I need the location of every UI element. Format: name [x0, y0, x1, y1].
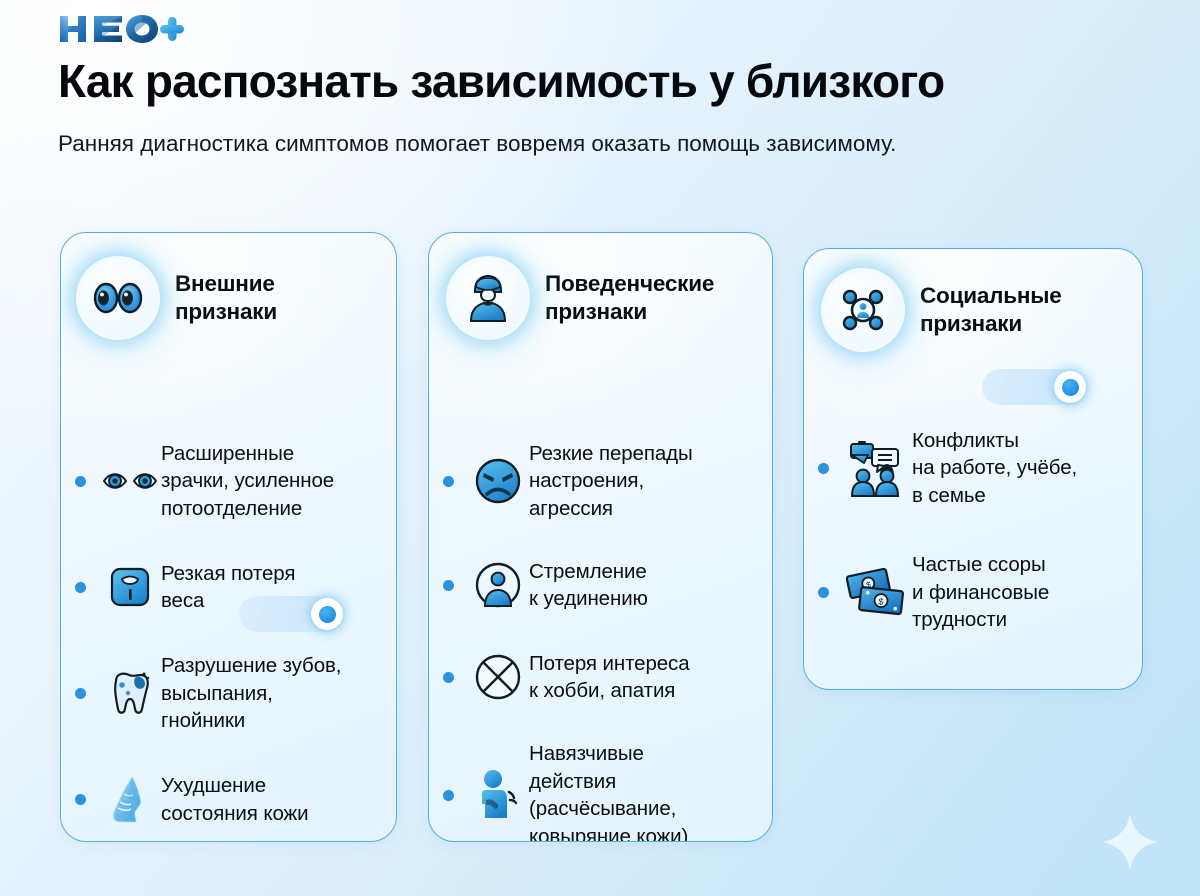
- bullet-dot: [75, 476, 86, 487]
- list-item-text: Резкая потеря веса: [161, 560, 295, 615]
- sparkle-icon: [1100, 812, 1160, 872]
- list-item: Расширенные зрачки, усиленное потоотделе…: [61, 440, 396, 522]
- card-header-behavioral: Поведенческие признаки: [449, 259, 714, 337]
- list-item: Потеря интереса к хобби, апатия: [429, 648, 772, 706]
- crossed-circle-icon: [467, 648, 529, 706]
- page-subtitle: Ранняя диагностика симптомов помогает во…: [58, 128, 978, 160]
- list-item-text: Частые ссоры и финансовые трудности: [912, 551, 1049, 633]
- card-title-social: Социальные признаки: [920, 282, 1062, 339]
- list-social: Конфликты на работе, учёбе, в семье $: [804, 427, 1142, 676]
- bullet-dot: [75, 582, 86, 593]
- list-item: Резкие перепады настроения, агрессия: [429, 440, 772, 522]
- card-behavioral-signs: Поведенческие признаки Резкие перепады н…: [428, 232, 773, 842]
- list-item-text: Расширенные зрачки, усиленное потоотделе…: [161, 440, 334, 522]
- bullet-dot: [75, 794, 86, 805]
- list-item-text: Разрушение зубов, высыпания, гнойники: [161, 652, 341, 734]
- card-external-signs: Внешние признаки Расширенные: [60, 232, 397, 842]
- person-circle-icon: [467, 556, 529, 614]
- list-item: Ухудшение состояния кожи: [61, 771, 396, 829]
- card-title-behavioral: Поведенческие признаки: [545, 270, 714, 327]
- list-item: Разрушение зубов, высыпания, гнойники: [61, 652, 396, 734]
- list-item-text: Потеря интереса к хобби, апатия: [529, 650, 690, 705]
- list-item-text: Конфликты на работе, учёбе, в семье: [912, 427, 1077, 509]
- skin-face-icon: [99, 771, 161, 829]
- list-item: Конфликты на работе, учёбе, в семье: [804, 427, 1142, 509]
- list-item: Стремление к уединению: [429, 556, 772, 614]
- social-network-icon: [824, 271, 902, 349]
- person-avatar-icon: [449, 259, 527, 337]
- bullet-dot: [443, 790, 454, 801]
- card-social-signs: Социальные признаки: [803, 248, 1143, 690]
- bullet-dot: [75, 688, 86, 699]
- bullet-dot: [818, 463, 829, 474]
- card-header-social: Социальные признаки: [824, 271, 1062, 349]
- list-item: Резкая потеря веса: [61, 558, 396, 616]
- card-title-external: Внешние признаки: [175, 270, 277, 327]
- eyes-icon: [79, 259, 157, 337]
- page-title: Как распознать зависимость у близкого: [58, 57, 1168, 107]
- money-banknotes-icon: $ $: [842, 564, 912, 622]
- toggle-knob: [1054, 371, 1086, 403]
- infographic-page: Как распознать зависимость у близкого Ра…: [0, 0, 1200, 896]
- angry-face-icon: [467, 452, 529, 510]
- weight-scale-icon: [99, 558, 161, 616]
- bullet-dot: [818, 587, 829, 598]
- list-item-text: Резкие перепады настроения, агрессия: [529, 440, 693, 522]
- list-item-text: Стремление к уединению: [529, 558, 648, 613]
- person-scratching-icon: [467, 766, 529, 824]
- list-external: Расширенные зрачки, усиленное потоотделе…: [61, 440, 396, 842]
- tooth-decay-icon: [99, 665, 161, 723]
- list-behavioral: Резкие перепады настроения, агрессия Стр…: [429, 440, 772, 842]
- dilated-pupils-icon: [99, 452, 161, 510]
- card-header-external: Внешние признаки: [79, 259, 277, 337]
- bullet-dot: [443, 476, 454, 487]
- brand-logo: [58, 14, 194, 44]
- bullet-dot: [443, 672, 454, 683]
- list-item-text: Навязчивые действия (расчёсывание, ковыр…: [529, 740, 688, 842]
- toggle-social[interactable]: [982, 369, 1088, 405]
- list-item: $ $ Частые ссоры и финансовые трудности: [804, 551, 1142, 633]
- svg-text:$: $: [878, 596, 884, 606]
- list-item: Навязчивые действия (расчёсывание, ковыр…: [429, 740, 772, 842]
- bullet-dot: [443, 580, 454, 591]
- list-item-text: Ухудшение состояния кожи: [161, 772, 309, 827]
- people-conflict-icon: [842, 439, 912, 497]
